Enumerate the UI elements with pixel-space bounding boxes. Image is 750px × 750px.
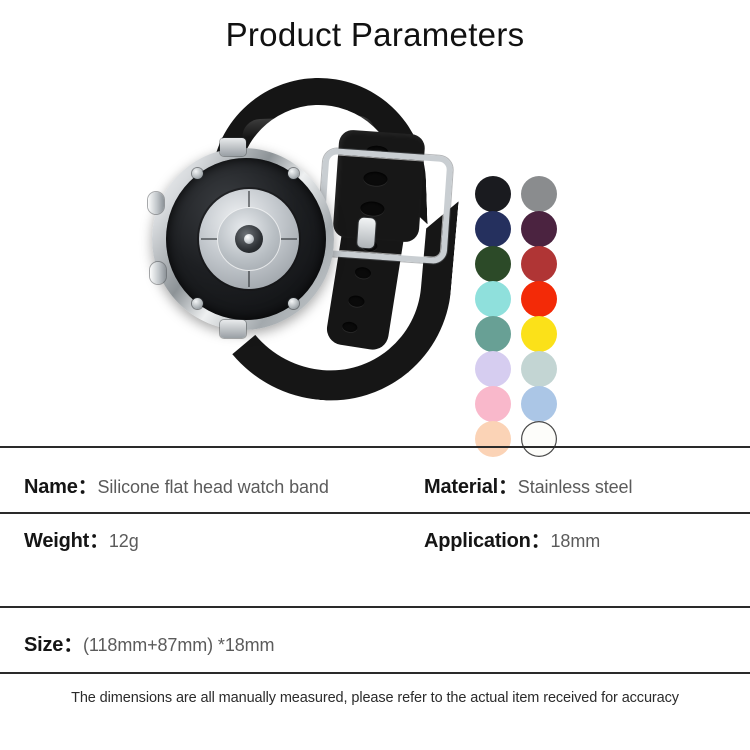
color-swatch-lavender[interactable] xyxy=(475,351,511,387)
spec-value-material: Stainless steel xyxy=(518,477,633,497)
divider-top xyxy=(0,446,750,448)
watch-case xyxy=(152,148,334,330)
divider-size-top xyxy=(0,606,750,608)
color-swatch-brick-red[interactable] xyxy=(521,246,557,282)
product-parameters-page: Product Parameters xyxy=(0,0,750,750)
color-swatch-teal-sage[interactable] xyxy=(475,316,511,352)
case-screw xyxy=(288,298,299,309)
spec-value-name: Silicone flat head watch band xyxy=(97,477,328,497)
color-swatch-yellow[interactable] xyxy=(521,316,557,352)
color-swatch-grid[interactable] xyxy=(472,176,576,468)
watch-band-illustration xyxy=(140,70,470,400)
color-swatch-aqua-mint[interactable] xyxy=(475,281,511,317)
product-hero xyxy=(0,70,750,430)
stainless-steel-buckle xyxy=(316,148,453,265)
color-swatch-black[interactable] xyxy=(475,176,511,212)
color-swatch-bright-red[interactable] xyxy=(521,281,557,317)
spec-label-name: Name： xyxy=(24,476,97,498)
watch-lug-top xyxy=(220,138,246,156)
spec-value-application: 18mm xyxy=(551,531,601,551)
spec-value-size: (118mm+87mm) *18mm xyxy=(83,635,274,655)
watch-side-button-lower xyxy=(150,262,166,284)
spec-cell-material: Material：Stainless steel xyxy=(424,470,632,499)
spec-cell-name: Name：Silicone flat head watch band xyxy=(24,470,329,499)
color-swatch-white[interactable] xyxy=(521,421,557,457)
page-title: Product Parameters xyxy=(0,16,750,54)
spec-label-size: Size： xyxy=(24,634,83,656)
sensor-led xyxy=(244,234,254,244)
color-swatch-pale-sage[interactable] xyxy=(521,351,557,387)
color-swatch-forest-green[interactable] xyxy=(475,246,511,282)
color-swatch-navy-blue[interactable] xyxy=(475,211,511,247)
color-swatch-pink[interactable] xyxy=(475,386,511,422)
case-screw xyxy=(192,298,203,309)
strap-hole xyxy=(342,321,358,333)
heart-rate-sensor xyxy=(199,189,299,289)
color-swatch-gray[interactable] xyxy=(521,176,557,212)
buckle-pin xyxy=(357,217,376,248)
color-swatch-dark-plum[interactable] xyxy=(521,211,557,247)
spec-label-application: Application： xyxy=(424,530,551,552)
measurement-disclaimer: The dimensions are all manually measured… xyxy=(0,690,750,706)
watch-side-button-upper xyxy=(148,192,164,214)
spec-cell-application: Application：18mm xyxy=(424,524,600,553)
divider-middle xyxy=(0,512,750,514)
color-swatch-peach[interactable] xyxy=(475,421,511,457)
case-screw xyxy=(192,168,203,179)
strap-hole xyxy=(354,266,372,279)
spec-value-weight: 12g xyxy=(109,531,139,551)
spec-cell-size: Size：(118mm+87mm) *18mm xyxy=(24,628,274,657)
spec-cell-weight: Weight：12g xyxy=(24,524,139,553)
spec-label-material: Material： xyxy=(424,476,518,498)
watch-lug-bottom xyxy=(220,320,246,338)
case-screw xyxy=(288,168,299,179)
color-swatch-powder-blue[interactable] xyxy=(521,386,557,422)
watch-back-body xyxy=(166,158,326,320)
divider-bottom xyxy=(0,672,750,674)
strap-hole xyxy=(348,295,366,308)
spec-label-weight: Weight： xyxy=(24,530,109,552)
